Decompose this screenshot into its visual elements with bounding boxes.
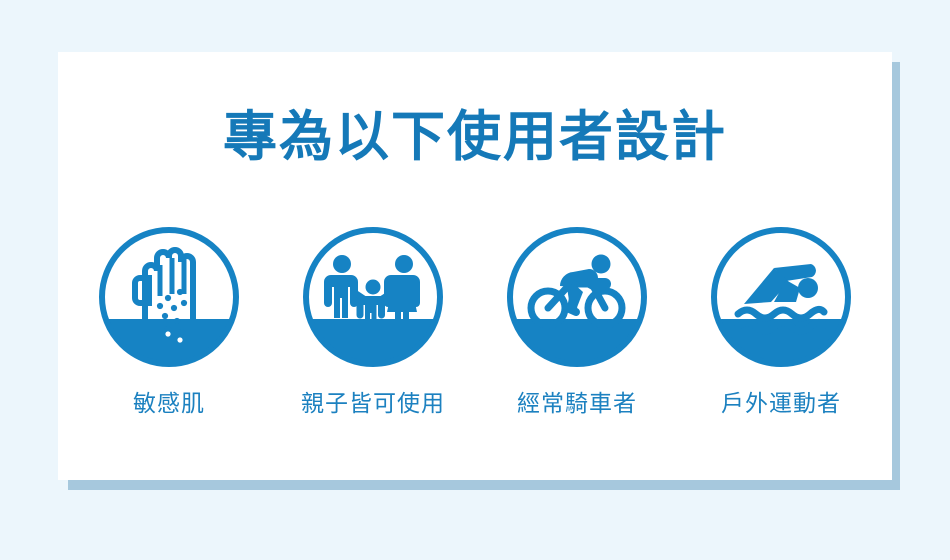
feature-label: 戶外運動者 xyxy=(721,392,841,415)
feature-item-swimmer[interactable]: 戶外運動者 xyxy=(679,224,883,415)
poster-stage: 專為以下使用者設計 xyxy=(0,0,950,560)
feature-label: 親子皆可使用 xyxy=(301,392,445,415)
feature-list: 敏感肌 xyxy=(58,224,892,415)
cyclist-bicycle-icon xyxy=(504,224,650,370)
feature-label: 經常騎車者 xyxy=(517,392,637,415)
badge-swimmer xyxy=(708,224,854,370)
page-title: 專為以下使用者設計 xyxy=(58,110,892,164)
feature-item-sensitive-skin[interactable]: 敏感肌 xyxy=(67,224,271,415)
feature-label: 敏感肌 xyxy=(133,392,205,415)
badge-sensitive-skin xyxy=(96,224,242,370)
feature-item-cyclist[interactable]: 經常騎車者 xyxy=(475,224,679,415)
badge-family xyxy=(300,224,446,370)
family-parent-child-icon xyxy=(300,224,446,370)
badge-cyclist xyxy=(504,224,650,370)
swimmer-outdoor-sport-icon xyxy=(708,224,854,370)
content-card: 專為以下使用者設計 xyxy=(58,52,892,480)
sensitive-skin-hand-icon xyxy=(96,224,242,370)
feature-item-family[interactable]: 親子皆可使用 xyxy=(271,224,475,415)
